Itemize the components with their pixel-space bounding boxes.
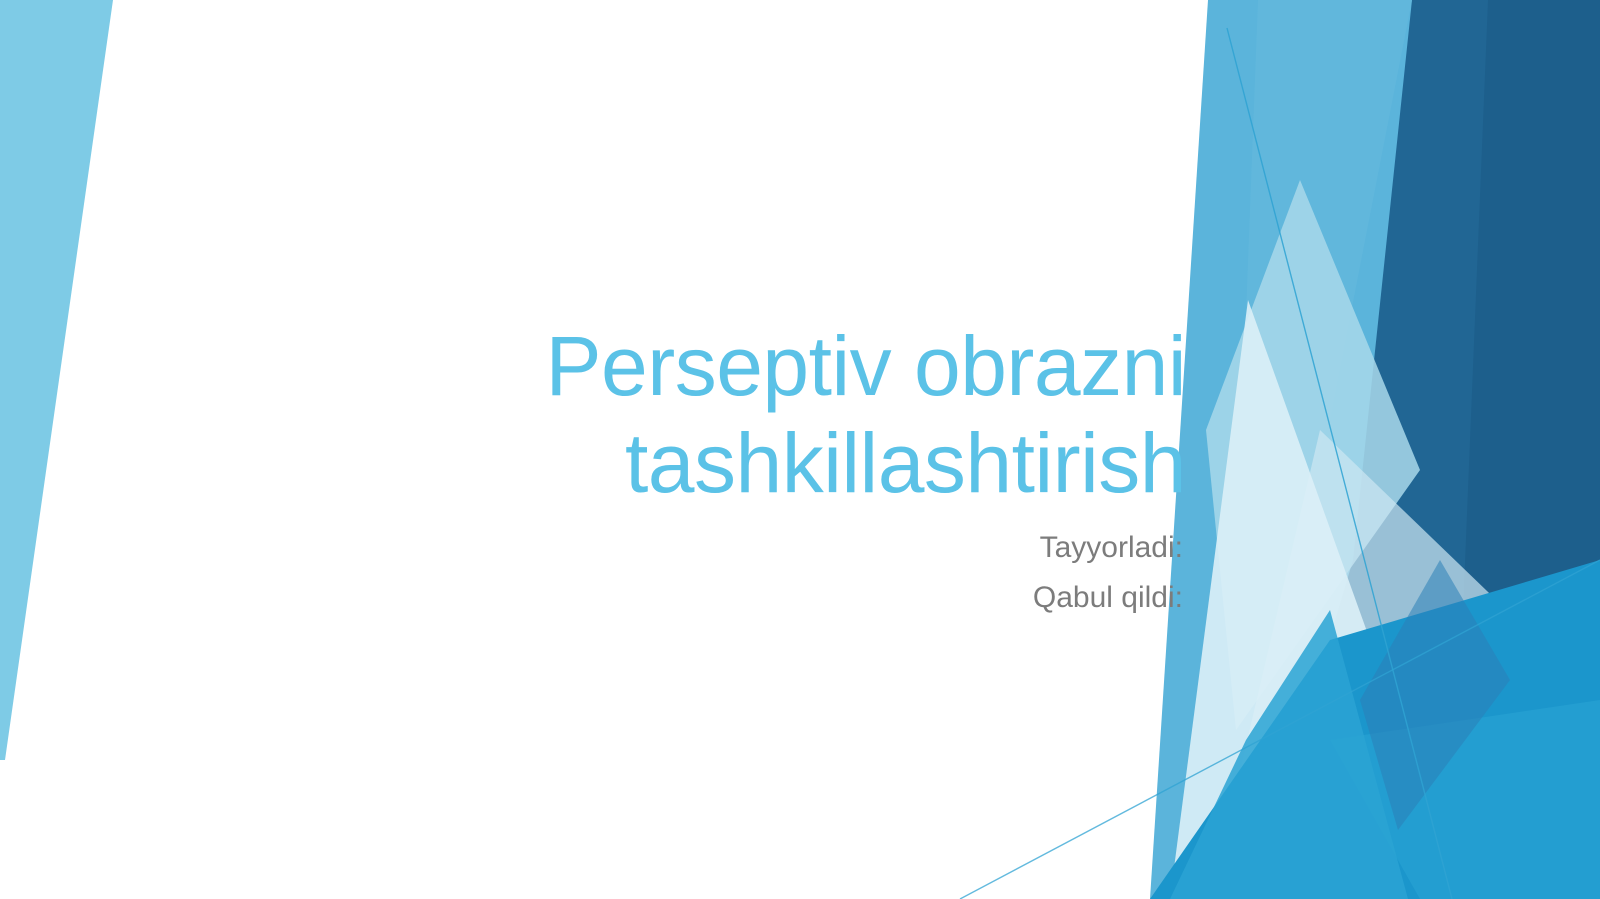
title-placeholder[interactable]: Perseptiv obrazni tashkillashtirish [320, 318, 1186, 513]
subtitle-line-accepted-by: Qabul qildi: [520, 573, 1183, 623]
slide-content: Perseptiv obrazni tashkillashtirish Tayy… [0, 0, 1600, 899]
page-title: Perseptiv obrazni tashkillashtirish [320, 318, 1186, 513]
slide-canvas: Perseptiv obrazni tashkillashtirish Tayy… [0, 0, 1600, 899]
subtitle-placeholder[interactable]: Tayyorladi: Qabul qildi: [520, 523, 1183, 624]
subtitle-line-prepared-by: Tayyorladi: [520, 523, 1183, 573]
